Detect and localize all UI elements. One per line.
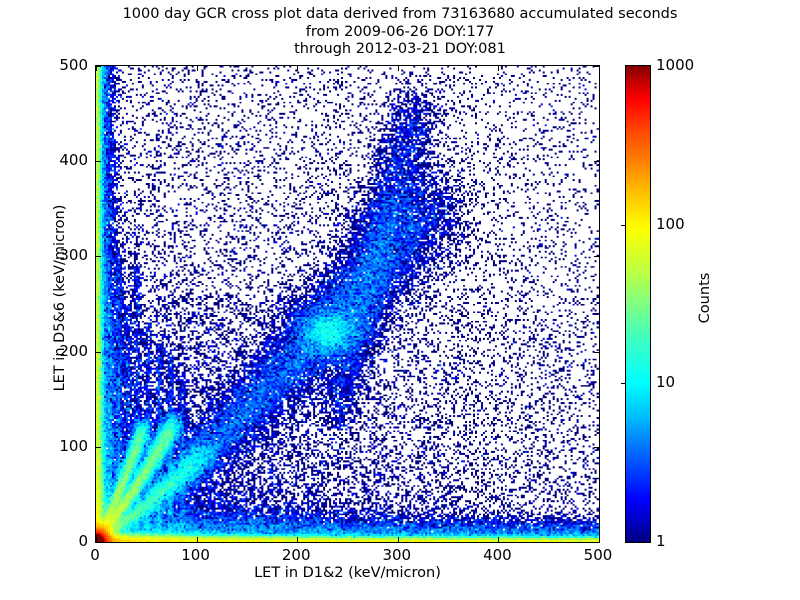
- y-tick-label: 0: [30, 532, 88, 550]
- plot-area: [95, 65, 600, 543]
- colorbar-tick-label: 10: [656, 373, 675, 391]
- colorbar-tick-mark: [621, 225, 626, 226]
- x-tick-label: 300: [357, 546, 437, 564]
- y-tick-mark: [96, 352, 101, 353]
- x-tick-mark: [398, 537, 399, 542]
- colorbar-tick-mark: [621, 383, 626, 384]
- density-scatter-canvas: [96, 66, 599, 542]
- x-tick-label: 400: [457, 546, 537, 564]
- y-tick-mark: [96, 542, 101, 543]
- x-tick-mark: [599, 537, 600, 542]
- figure-title-line-2: from 2009-06-26 DOY:177: [0, 24, 800, 42]
- y-tick-mark: [96, 447, 101, 448]
- x-tick-mark: [398, 66, 399, 71]
- y-tick-label: 300: [30, 246, 88, 264]
- y-tick-mark: [594, 161, 599, 162]
- colorbar: [625, 65, 651, 543]
- colorbar-tick-label: 100: [656, 215, 685, 233]
- y-tick-label: 400: [30, 151, 88, 169]
- y-tick-mark: [594, 542, 599, 543]
- y-tick-label: 500: [30, 56, 88, 74]
- figure-title-line-1: 1000 day GCR cross plot data derived fro…: [0, 6, 800, 24]
- y-tick-mark: [96, 256, 101, 257]
- figure-root: 1000 day GCR cross plot data derived fro…: [0, 0, 800, 600]
- x-tick-mark: [498, 66, 499, 71]
- figure-title: 1000 day GCR cross plot data derived fro…: [0, 6, 800, 59]
- colorbar-tick-label: 1000: [656, 56, 694, 74]
- y-tick-mark: [594, 256, 599, 257]
- x-tick-mark: [599, 66, 600, 71]
- y-tick-mark: [594, 447, 599, 448]
- y-tick-mark: [96, 161, 101, 162]
- x-tick-label: 500: [558, 546, 638, 564]
- y-tick-mark: [96, 66, 101, 67]
- x-axis-title: LET in D1&2 (keV/micron): [95, 565, 600, 581]
- x-tick-mark: [197, 66, 198, 71]
- x-tick-mark: [498, 537, 499, 542]
- y-tick-mark: [594, 352, 599, 353]
- y-tick-mark: [594, 66, 599, 67]
- x-tick-label: 200: [256, 546, 336, 564]
- x-tick-mark: [297, 537, 298, 542]
- colorbar-tick-label: 1: [656, 532, 666, 550]
- x-tick-label: 100: [156, 546, 236, 564]
- y-tick-label: 100: [30, 437, 88, 455]
- colorbar-title: Counts: [697, 188, 713, 408]
- x-tick-mark: [197, 537, 198, 542]
- x-tick-mark: [297, 66, 298, 71]
- y-tick-label: 200: [30, 342, 88, 360]
